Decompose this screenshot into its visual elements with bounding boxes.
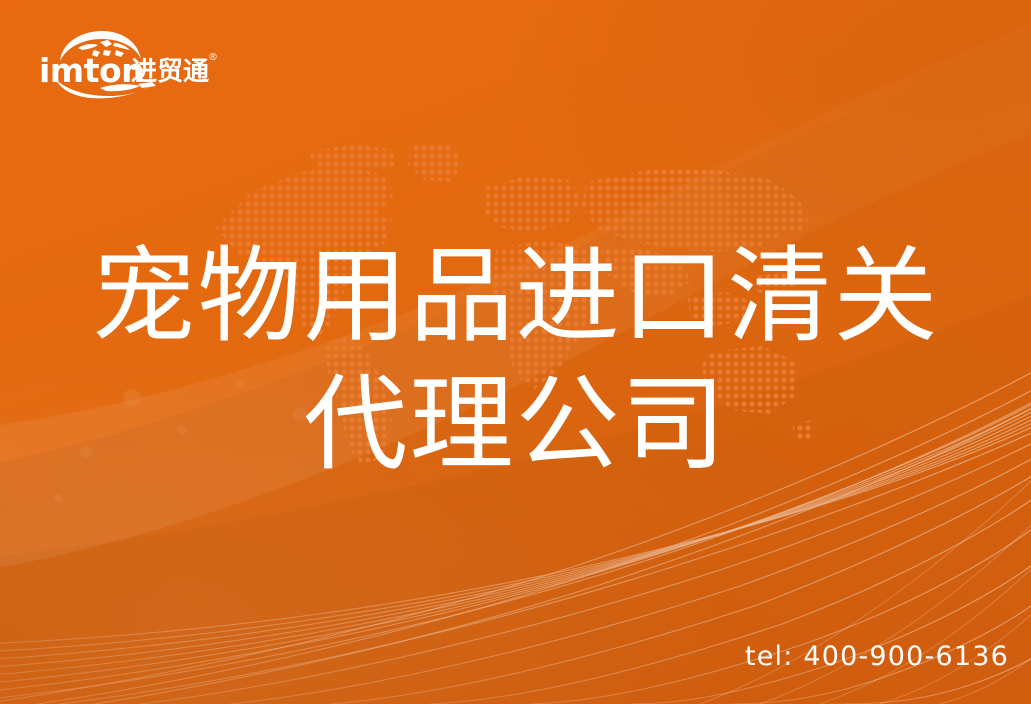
brand-logo[interactable]: imton 进贸通 ®: [38, 28, 218, 100]
svg-text:®: ®: [208, 52, 218, 63]
svg-text:imton: imton: [39, 51, 144, 90]
headline-line-2: 代理公司: [0, 360, 1031, 488]
contact-telephone[interactable]: tel: 400-900-6136: [745, 641, 1009, 672]
headline-line-1: 宠物用品进口清关: [0, 232, 1031, 360]
promo-banner: imton 进贸通 ® 宠物用品进口清关 代理公司 tel: 400-900-6…: [0, 0, 1031, 704]
logo-chinese-name: 进贸通: [131, 57, 209, 87]
logo-wordmark: imton: [39, 51, 144, 90]
svg-text:进贸通: 进贸通: [131, 57, 209, 87]
page-title: 宠物用品进口清关 代理公司: [0, 232, 1031, 488]
trademark-icon: ®: [208, 52, 218, 63]
